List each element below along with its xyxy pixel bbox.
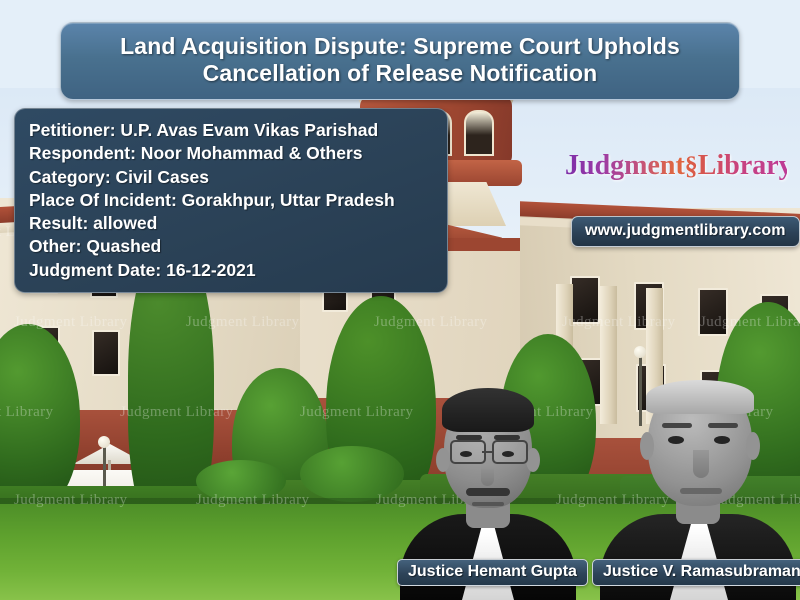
brand-logo-text: Judgment§Library — [565, 152, 787, 180]
ear — [746, 432, 760, 460]
shrub-ball — [196, 460, 286, 502]
judge-name-badge-1: Justice Hemant Gupta — [397, 559, 588, 586]
brand-word-judgment: Judgment — [565, 150, 685, 181]
headline-banner: Land Acquisition Dispute: Supreme Court … — [60, 22, 740, 100]
eye — [714, 436, 730, 444]
brand-word-library: Library — [698, 150, 793, 181]
case-detail-category: Category: Civil Cases — [29, 166, 447, 189]
mouth — [472, 502, 504, 506]
shrub-ball — [300, 446, 404, 502]
nose — [693, 450, 709, 478]
eyebrow — [662, 423, 692, 428]
case-details-panel: Petitioner: U.P. Avas Evam Vikas Parisha… — [14, 108, 448, 293]
window — [92, 330, 120, 376]
case-detail-respondent: Respondent: Noor Mohammad & Others — [29, 142, 447, 165]
ear — [436, 448, 450, 472]
dome-arch — [464, 110, 494, 156]
ear — [526, 448, 540, 472]
window — [570, 276, 600, 324]
moustache — [466, 488, 510, 496]
nose — [481, 464, 494, 486]
eye — [502, 451, 514, 457]
case-detail-judgment-date: Judgment Date: 16-12-2021 — [29, 259, 447, 282]
hair-grey — [646, 380, 754, 414]
lamp-post-globe — [634, 346, 646, 358]
website-url-badge[interactable]: www.judgmentlibrary.com — [571, 216, 800, 247]
case-detail-result: Result: allowed — [29, 212, 447, 235]
window — [698, 288, 728, 336]
eye — [668, 436, 684, 444]
headline-line-1: Land Acquisition Dispute: Supreme Court … — [75, 33, 725, 60]
judge-name-text: Justice Hemant Gupta — [408, 563, 577, 580]
mouth — [680, 488, 722, 494]
case-detail-other: Other: Quashed — [29, 235, 447, 258]
eye — [460, 451, 472, 457]
ear — [640, 432, 654, 460]
section-symbol-icon: § — [685, 151, 698, 180]
lamp-post-globe — [98, 436, 110, 448]
brand-logo: Judgment§Library — [565, 152, 787, 180]
website-url-text: www.judgmentlibrary.com — [585, 222, 786, 239]
poster-canvas: Judgment Library Judgment Library Judgme… — [0, 0, 800, 600]
case-detail-petitioner: Petitioner: U.P. Avas Evam Vikas Parisha… — [29, 119, 447, 142]
judge-name-text: Justice V. Ramasubramanian — [603, 563, 800, 580]
hair — [442, 388, 534, 432]
headline-line-2: Cancellation of Release Notification — [75, 60, 725, 87]
case-detail-place-of-incident: Place Of Incident: Gorakhpur, Uttar Prad… — [29, 189, 447, 212]
eyebrow — [708, 423, 738, 428]
judge-name-badge-2: Justice V. Ramasubramanian — [592, 559, 800, 586]
eyeglasses-bridge — [482, 451, 494, 453]
